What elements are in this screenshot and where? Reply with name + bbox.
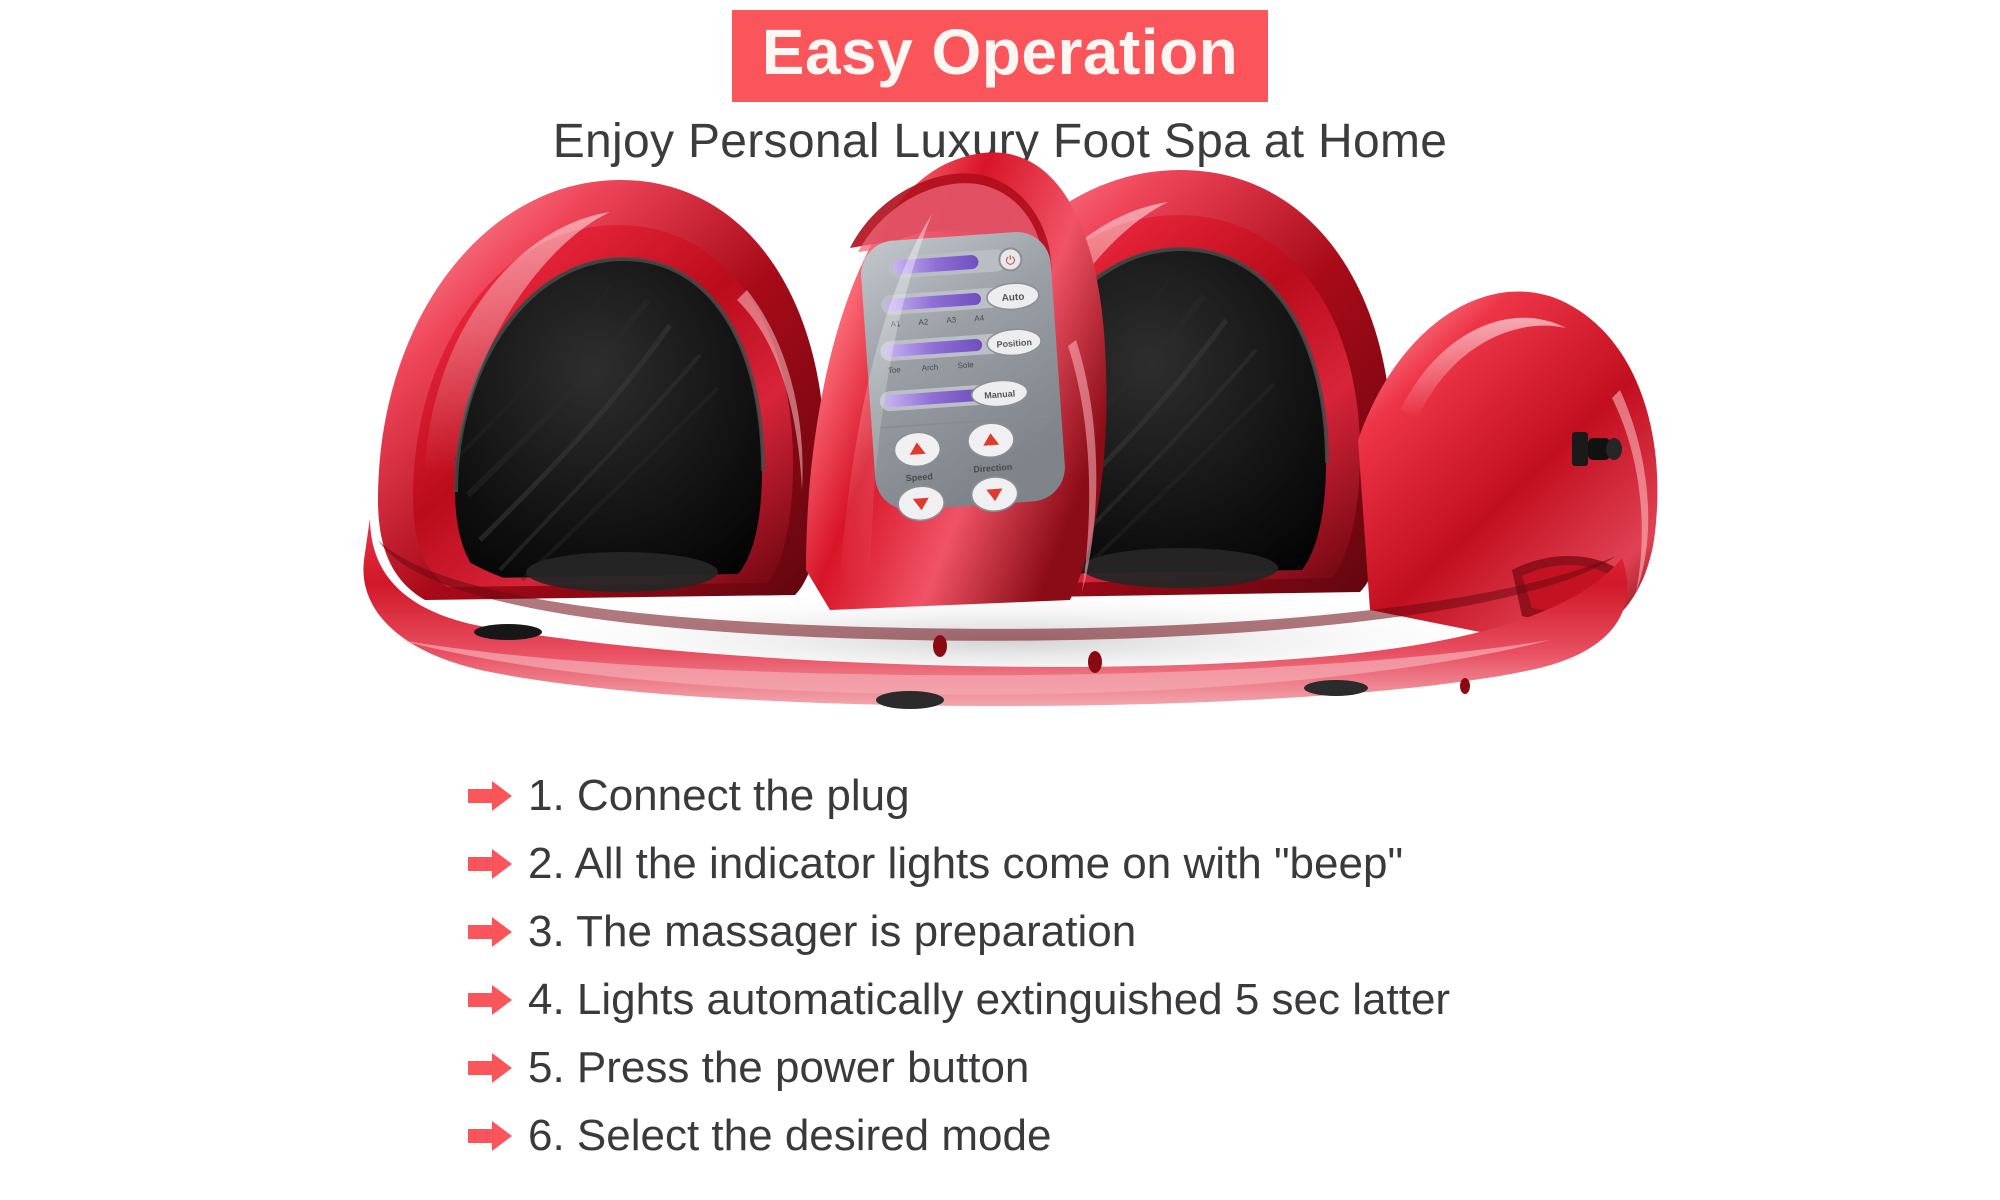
list-item: 6. Select the desired mode xyxy=(468,1102,1668,1170)
arrow-right-icon xyxy=(468,1051,512,1085)
svg-text:A2: A2 xyxy=(918,317,929,327)
arrow-right-icon xyxy=(468,915,512,949)
list-item: 4. Lights automatically extinguished 5 s… xyxy=(468,966,1668,1034)
rubber-foot-center xyxy=(876,691,944,709)
step-text: 3. The massager is preparation xyxy=(528,910,1136,954)
arrow-right-icon xyxy=(468,983,512,1017)
rubber-foot-right xyxy=(1304,680,1368,696)
arrow-right-icon xyxy=(468,1119,512,1153)
rubber-foot-left xyxy=(474,624,542,640)
product-image: ⏻ Auto A1 A2 A3 A4 Position Toe Arch Sol… xyxy=(0,140,2000,740)
svg-text:A4: A4 xyxy=(974,313,985,323)
svg-text:Auto: Auto xyxy=(1001,292,1024,305)
right-sole-insert xyxy=(1082,548,1278,588)
list-item: 5. Press the power button xyxy=(468,1034,1668,1102)
arrow-right-icon xyxy=(468,847,512,881)
svg-text:⏻: ⏻ xyxy=(1005,253,1016,268)
left-sole-insert xyxy=(526,552,718,592)
center-console: ⏻ Auto A1 A2 A3 A4 Position Toe Arch Sol… xyxy=(806,152,1107,610)
arrow-right-icon xyxy=(468,779,512,813)
left-foot-pocket xyxy=(378,180,825,600)
list-item: 2. All the indicator lights come on with… xyxy=(468,830,1668,898)
list-item: 1. Connect the plug xyxy=(468,762,1668,830)
base-screw-port-2 xyxy=(1088,651,1102,673)
step-text: 1. Connect the plug xyxy=(528,774,910,818)
step-text: 4. Lights automatically extinguished 5 s… xyxy=(528,978,1450,1022)
page-title: Easy Operation xyxy=(732,10,1269,102)
base-screw-port-3 xyxy=(1460,678,1470,694)
svg-text:Sole: Sole xyxy=(957,360,974,370)
foot-massager-illustration: ⏻ Auto A1 A2 A3 A4 Position Toe Arch Sol… xyxy=(250,140,1750,740)
step-text: 5. Press the power button xyxy=(528,1046,1029,1090)
list-item: 3. The massager is preparation xyxy=(468,898,1668,966)
svg-text:Speed: Speed xyxy=(905,471,933,483)
base-screw-port-1 xyxy=(933,635,947,657)
step-text: 2. All the indicator lights come on with… xyxy=(528,842,1403,886)
svg-text:Arch: Arch xyxy=(921,363,938,373)
operation-steps-list: 1. Connect the plug 2. All the indicator… xyxy=(468,762,1668,1170)
step-text: 6. Select the desired mode xyxy=(528,1114,1051,1158)
svg-text:A3: A3 xyxy=(946,315,957,325)
